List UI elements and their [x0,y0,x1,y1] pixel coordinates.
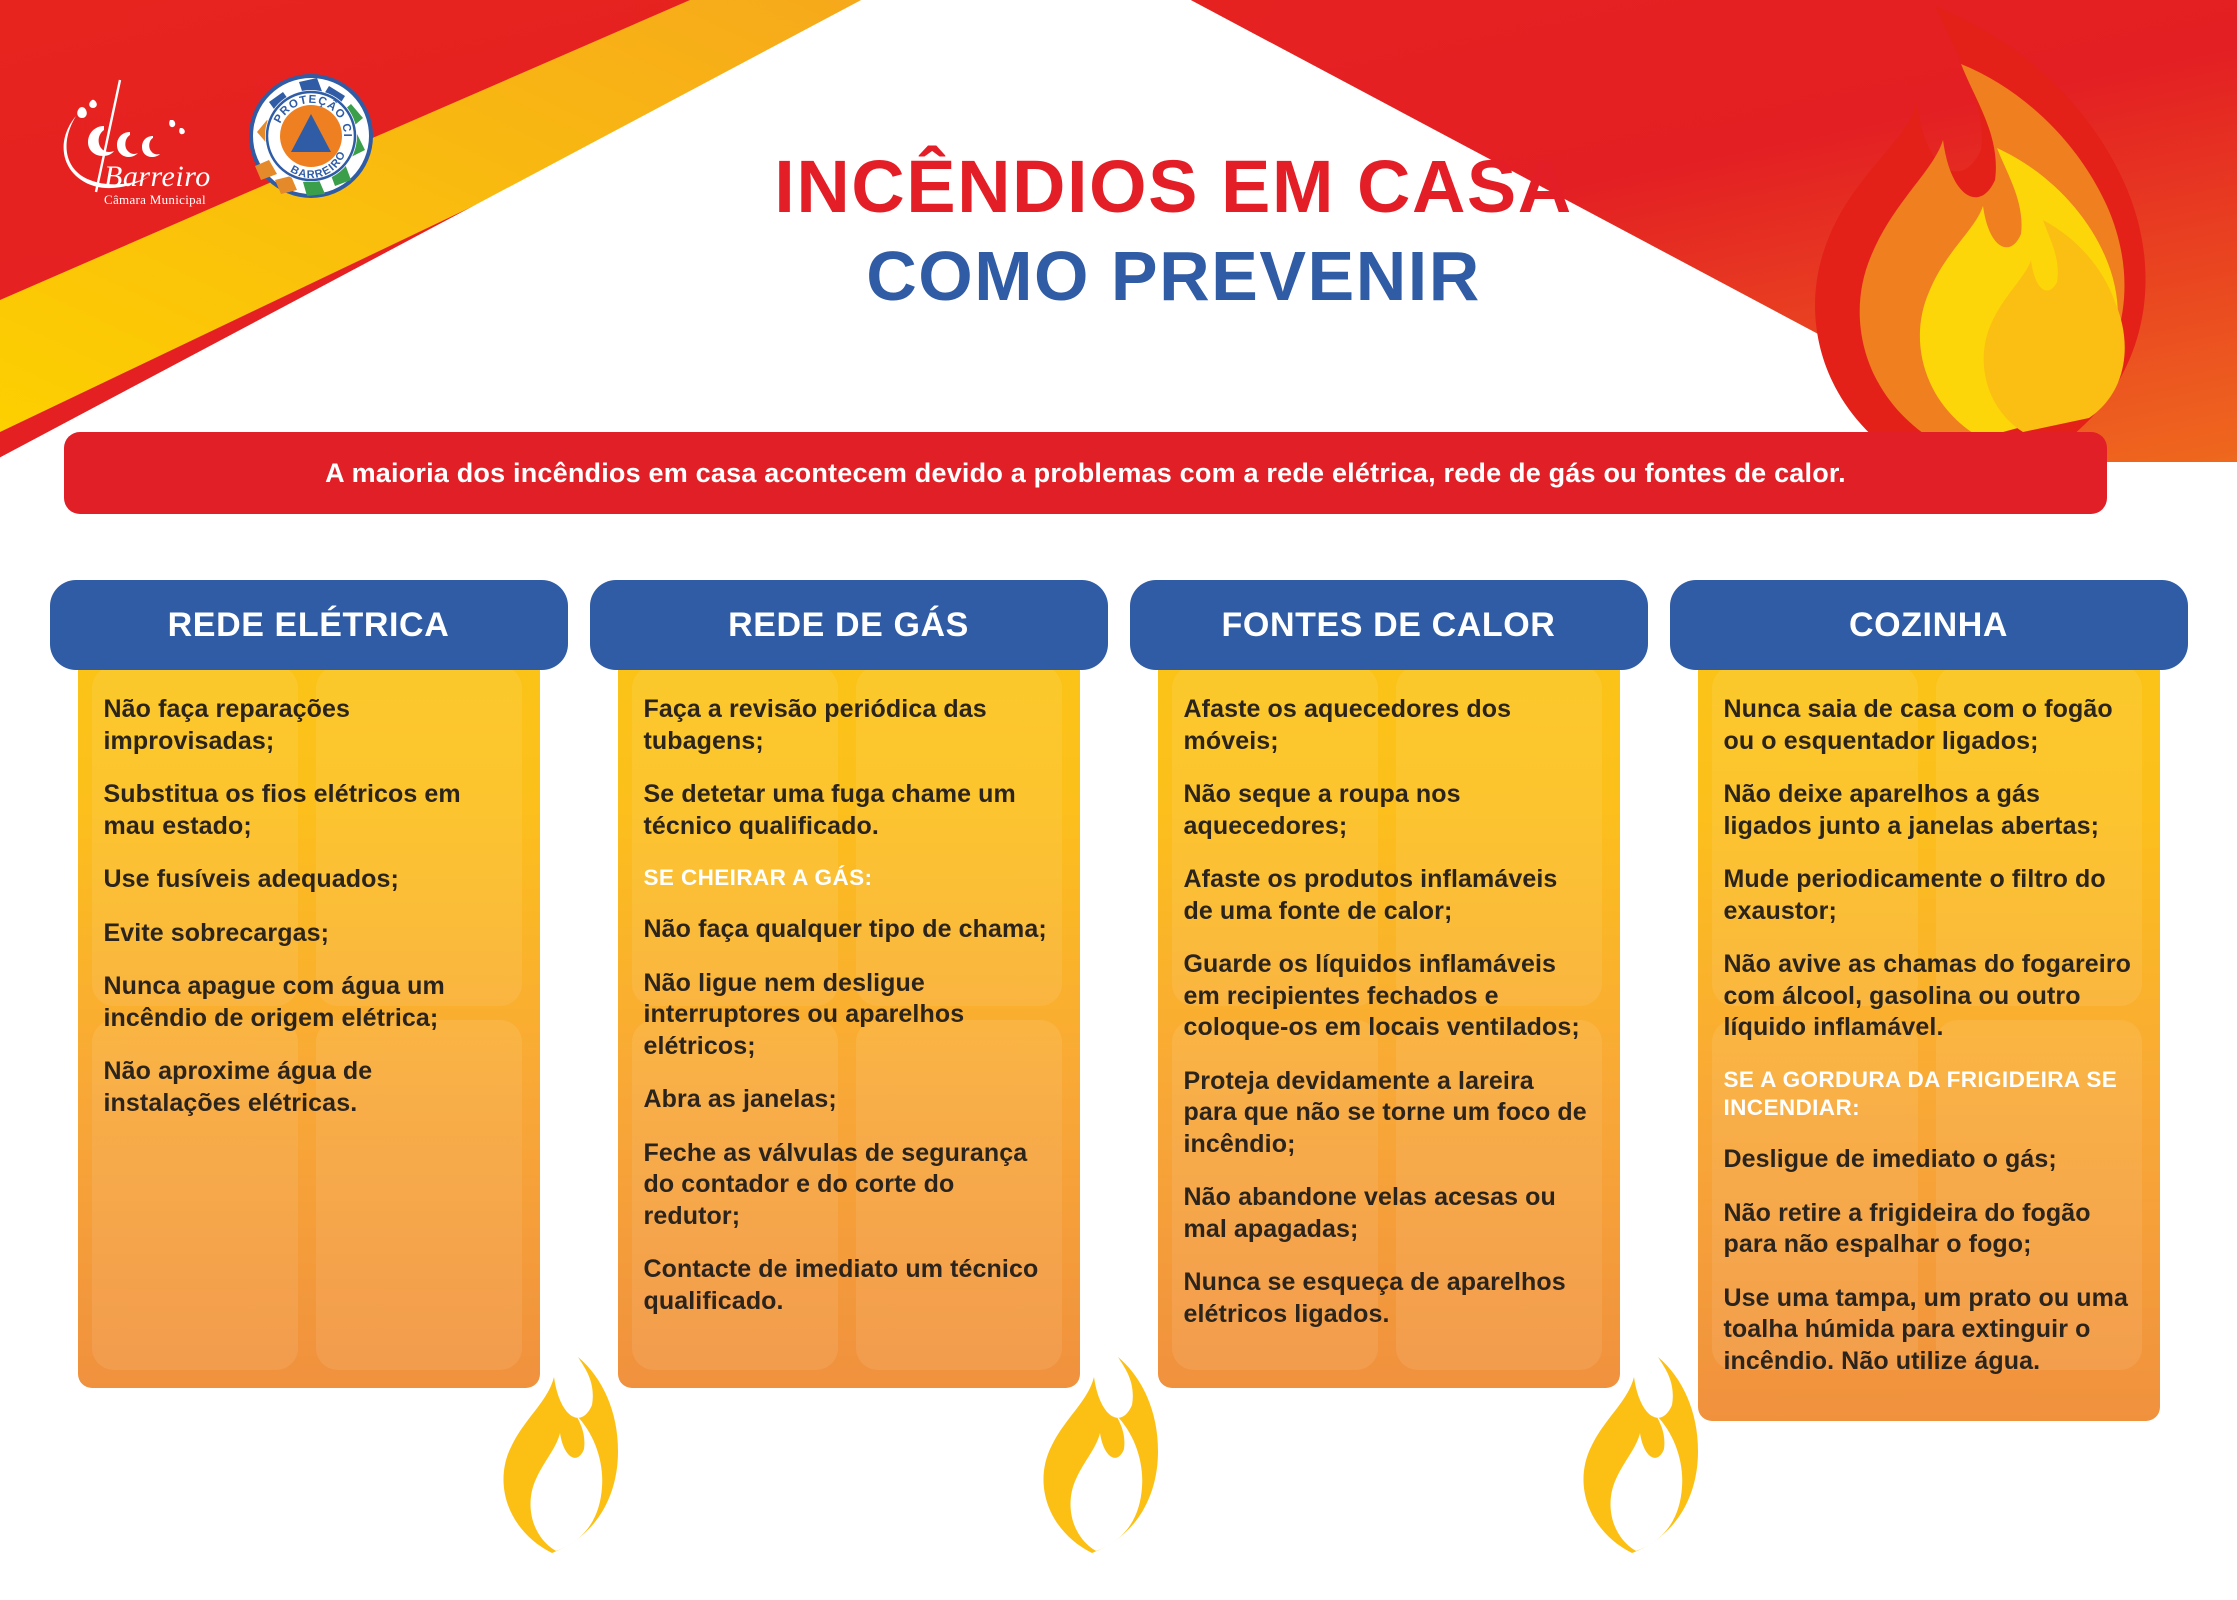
advice-item: Não seque a roupa nos aquecedores; [1184,779,1594,842]
advice-item: Não avive as chamas do fogareiro com álc… [1724,949,2134,1044]
advice-item: Faça a revisão periódica das tubagens; [644,694,1054,757]
poster-root: Barreiro Câmara Municipal [0,0,2237,1600]
advice-item: Substitua os fios elétricos em mau estad… [104,779,514,842]
protecao-civil-badge-icon: PROTEÇÃO CIVIL BARREIRO [247,72,375,200]
advice-item: Guarde os líquidos inflamáveis em recipi… [1184,949,1594,1044]
intro-banner-text: A maioria dos incêndios em casa acontece… [301,458,1870,489]
advice-item: Não deixe aparelhos a gás ligados junto … [1724,779,2134,842]
advice-item: Não abandone velas acesas ou mal apagada… [1184,1182,1594,1245]
advice-item: Afaste os aquecedores dos móveis; [1184,694,1594,757]
advice-subheading: SE CHEIRAR A GÁS: [644,864,1054,892]
column-text-cozinha: Nunca saia de casa com o fogão ou o esqu… [1724,694,2134,1377]
column-header-rede-de-gas[interactable]: REDE DE GÁS [590,580,1108,670]
column-header-fontes-de-calor[interactable]: FONTES DE CALOR [1130,580,1648,670]
barreiro-logo-name: Barreiro [104,160,211,194]
advice-item: Não retire a frigideira do fogão para nã… [1724,1198,2134,1261]
advice-item: Use uma tampa, um prato ou uma toalha hú… [1724,1283,2134,1378]
barreiro-municipality-logo: Barreiro Câmara Municipal [52,72,207,212]
advice-item: Nunca se esqueça de aparelhos elétricos … [1184,1267,1594,1330]
barreiro-logo-subtitle: Câmara Municipal [104,192,206,208]
advice-item: Mude periodicamente o filtro do exaustor… [1724,864,2134,927]
advice-item: Abra as janelas; [644,1084,1054,1116]
column-body-rede-eletrica: Não faça reparações improvisadas;Substit… [78,648,540,1388]
advice-column-fontes-de-calor: FONTES DE CALORAfaste os aquecedores dos… [1130,580,1648,1500]
advice-item: Não faça reparações improvisadas; [104,694,514,757]
advice-item: Evite sobrecargas; [104,918,514,950]
column-body-fontes-de-calor: Afaste os aquecedores dos móveis;Não seq… [1158,648,1620,1388]
column-body-cozinha: Nunca saia de casa com o fogão ou o esqu… [1698,648,2160,1421]
column-text-fontes-de-calor: Afaste os aquecedores dos móveis;Não seq… [1184,694,1594,1330]
logo-group: Barreiro Câmara Municipal [52,72,375,212]
column-body-rede-de-gas: Faça a revisão periódica das tubagens;Se… [618,648,1080,1388]
advice-item: Feche as válvulas de segurança do contad… [644,1138,1054,1233]
column-header-cozinha[interactable]: COZINHA [1670,580,2188,670]
advice-item: Contacte de imediato um técnico qualific… [644,1254,1054,1317]
advice-item: Desligue de imediato o gás; [1724,1144,2134,1176]
advice-item: Não ligue nem desligue interruptores ou … [644,968,1054,1063]
advice-item: Nunca saia de casa com o fogão ou o esqu… [1724,694,2134,757]
advice-item: Nunca apague com água um incêndio de ori… [104,971,514,1034]
flame-icon-large [1767,0,2237,479]
advice-item: Proteja devidamente a lareira para que n… [1184,1066,1594,1161]
advice-item: Use fusíveis adequados; [104,864,514,896]
advice-column-rede-eletrica: REDE ELÉTRICANão faça reparações improvi… [50,580,568,1500]
advice-item: Afaste os produtos inflamáveis de uma fo… [1184,864,1594,927]
column-text-rede-de-gas: Faça a revisão periódica das tubagens;Se… [644,694,1054,1317]
column-header-rede-eletrica[interactable]: REDE ELÉTRICA [50,580,568,670]
advice-item: Não faça qualquer tipo de chama; [644,914,1054,946]
column-text-rede-eletrica: Não faça reparações improvisadas;Substit… [104,694,514,1119]
advice-column-rede-de-gas: REDE DE GÁSFaça a revisão periódica das … [590,580,1108,1500]
advice-item: Não aproxime água de instalações elétric… [104,1056,514,1119]
advice-subheading: SE A GORDURA DA FRIGIDEIRA SE INCENDIAR: [1724,1066,2134,1123]
advice-columns: REDE ELÉTRICANão faça reparações improvi… [0,580,2237,1500]
intro-banner: A maioria dos incêndios em casa acontece… [64,432,2107,514]
advice-item: Se detetar uma fuga chame um técnico qua… [644,779,1054,842]
advice-column-cozinha: COZINHANunca saia de casa com o fogão ou… [1670,580,2188,1500]
